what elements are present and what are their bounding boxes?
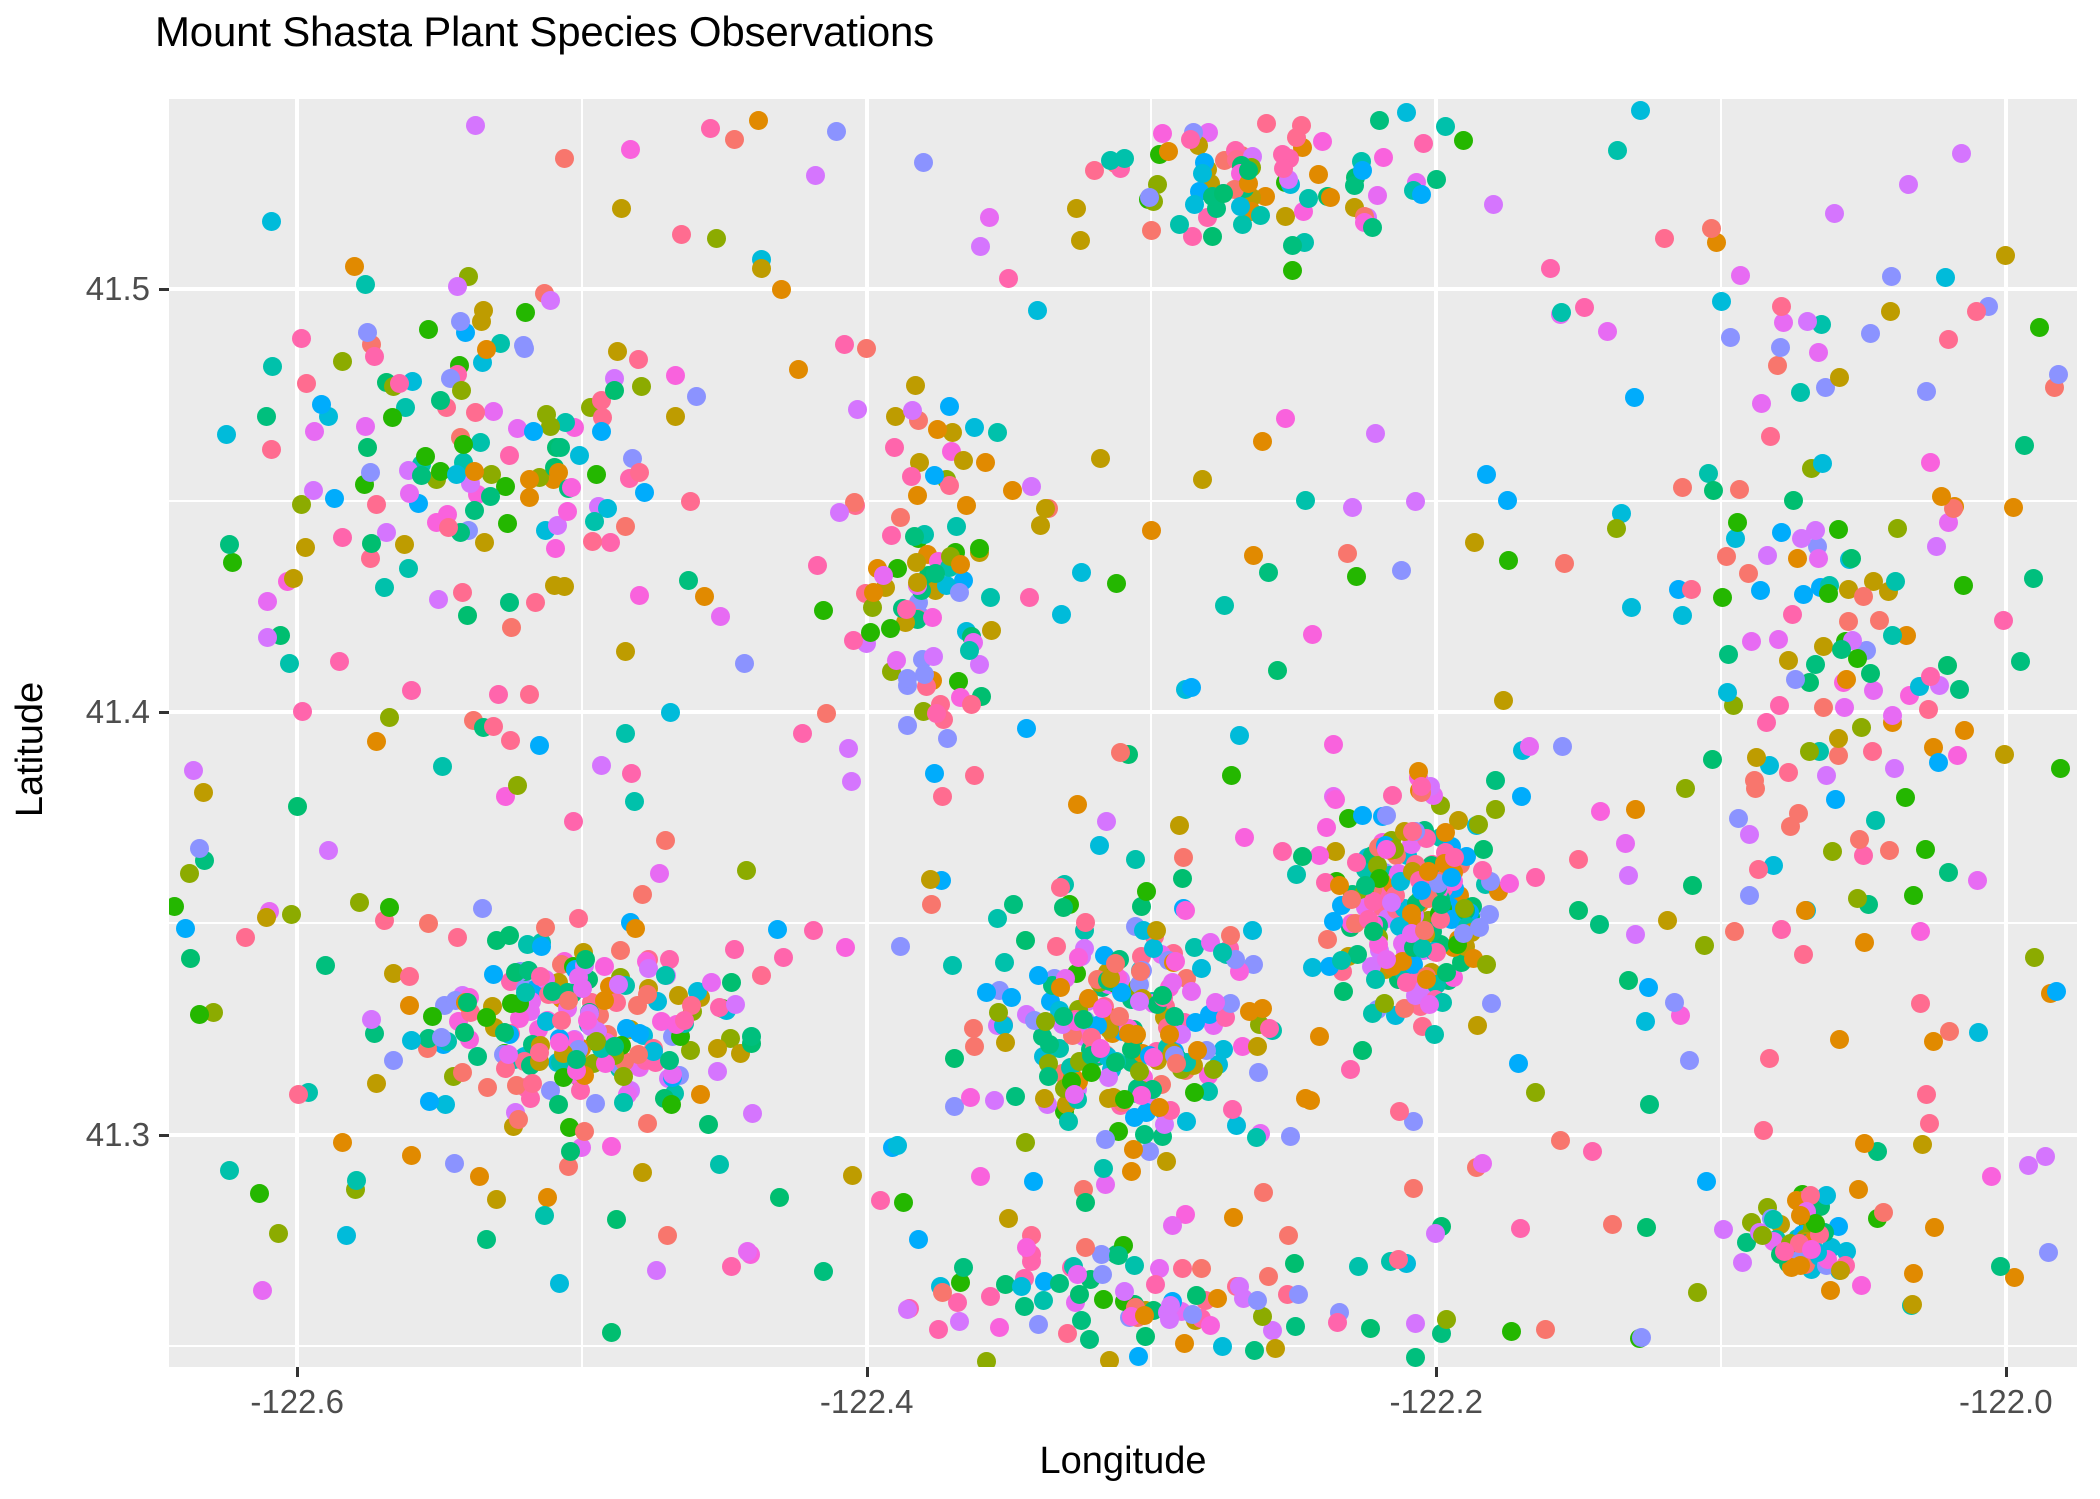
scatter-point: [1590, 915, 1609, 934]
scatter-point: [1318, 930, 1337, 949]
scatter-point: [561, 1142, 580, 1161]
scatter-point: [1852, 1276, 1871, 1295]
scatter-point: [1420, 995, 1439, 1014]
scatter-point: [1368, 186, 1387, 205]
scatter-point: [675, 1011, 694, 1030]
scatter-point: [1047, 937, 1066, 956]
scatter-point: [1754, 1121, 1773, 1140]
scatter-point: [2036, 1147, 2055, 1166]
scatter-point: [536, 918, 555, 937]
scatter-point: [1193, 470, 1212, 489]
scatter-point: [1157, 1152, 1176, 1171]
scatter-point: [1764, 1210, 1783, 1229]
scatter-point: [1289, 1285, 1308, 1304]
scatter-point: [546, 539, 565, 558]
scatter-point: [1936, 268, 1955, 287]
scatter-point: [961, 1088, 980, 1107]
scatter-point: [1281, 1127, 1300, 1146]
scatter-point: [1192, 959, 1211, 978]
scatter-point: [420, 1092, 439, 1111]
scatter-point: [358, 438, 377, 457]
scatter-point: [1349, 1257, 1368, 1276]
scatter-point: [1717, 547, 1736, 566]
scatter-point: [1814, 637, 1833, 656]
scatter-point: [1203, 227, 1222, 246]
scatter-point: [362, 534, 381, 553]
scatter-point: [938, 729, 957, 748]
scatter-point: [1555, 554, 1574, 573]
scatter-point: [1896, 788, 1915, 807]
scatter-point: [253, 1281, 272, 1300]
scatter-point: [1526, 868, 1545, 887]
scatter-point: [1299, 189, 1318, 208]
scatter-point: [1772, 920, 1791, 939]
scatter-point: [419, 320, 438, 339]
scatter-point: [1397, 103, 1416, 122]
scatter-point: [516, 983, 535, 1002]
scatter-point: [447, 465, 466, 484]
scatter-point: [908, 486, 927, 505]
scatter-point: [722, 1257, 741, 1276]
scatter-point: [1569, 901, 1588, 920]
scatter-point: [1016, 1133, 1035, 1152]
scatter-point: [1929, 753, 1948, 772]
scatter-point: [1749, 860, 1768, 879]
scatter-point: [1140, 1142, 1159, 1161]
scatter-point: [1486, 771, 1505, 790]
scatter-point: [1235, 828, 1254, 847]
scatter-point: [990, 1318, 1009, 1337]
scatter-point: [220, 1161, 239, 1180]
scatter-point: [502, 618, 521, 637]
scatter-point: [1177, 1112, 1196, 1131]
scatter-point: [532, 937, 551, 956]
scatter-point: [793, 724, 812, 743]
scatter-point: [1426, 1224, 1445, 1243]
scatter-point: [399, 559, 418, 578]
scatter-point: [400, 996, 419, 1015]
scatter-point: [903, 401, 922, 420]
scatter-point: [1740, 825, 1759, 844]
scatter-point: [1603, 1215, 1622, 1234]
scatter-point: [1115, 149, 1134, 168]
scatter-point: [592, 422, 611, 441]
scatter-point: [1224, 1208, 1243, 1227]
scatter-point: [484, 717, 503, 736]
scatter-point: [1729, 809, 1748, 828]
scatter-point: [1153, 124, 1172, 143]
scatter-point: [710, 1155, 729, 1174]
scatter-point: [1146, 1275, 1165, 1294]
y-axis-tick-label: 41.4: [150, 693, 214, 731]
scatter-point: [1469, 815, 1488, 834]
scatter-point: [1366, 424, 1385, 443]
scatter-point: [1012, 1277, 1031, 1296]
scatter-point: [1473, 861, 1492, 880]
scatter-point: [687, 387, 706, 406]
scatter-point: [1406, 492, 1425, 511]
scatter-point: [1286, 1317, 1305, 1336]
scatter-point: [1742, 632, 1761, 651]
scatter-point: [194, 783, 213, 802]
scatter-point: [752, 966, 771, 985]
scatter-point: [1625, 388, 1644, 407]
scatter-point: [924, 647, 943, 666]
scatter-point: [874, 566, 893, 585]
scatter-point: [541, 417, 560, 436]
scatter-point: [817, 704, 836, 723]
scatter-point: [1017, 719, 1036, 738]
scatter-point: [1437, 963, 1456, 982]
scatter-point: [1342, 890, 1361, 909]
scatter-point: [1182, 982, 1201, 1001]
scatter-point: [1213, 943, 1232, 962]
scatter-point: [1830, 1030, 1849, 1049]
scatter-point: [1619, 866, 1638, 885]
scatter-point: [1704, 481, 1723, 500]
scatter-point: [2047, 982, 2066, 1001]
scatter-point: [965, 1037, 984, 1056]
scatter-point: [1132, 1086, 1151, 1105]
scatter-point: [921, 870, 940, 889]
scatter-point: [1204, 1060, 1223, 1079]
scatter-point: [1968, 871, 1987, 890]
scatter-point: [477, 340, 496, 359]
scatter-point: [1761, 427, 1780, 446]
scatter-point: [1783, 605, 1802, 624]
x-axis-tick: [1435, 1367, 1438, 1377]
scatter-point: [1142, 521, 1161, 540]
scatter-point: [661, 703, 680, 722]
scatter-point: [1541, 259, 1560, 278]
scatter-point: [304, 481, 323, 500]
scatter-point: [1068, 795, 1087, 814]
scatter-point: [473, 899, 492, 918]
scatter-point: [1526, 1083, 1545, 1102]
scatter-point: [1100, 1351, 1119, 1367]
scatter-point: [1500, 874, 1519, 893]
scatter-point: [429, 590, 448, 609]
scatter-point: [1445, 848, 1464, 867]
scatter-point: [1774, 313, 1793, 332]
scatter-point: [1655, 229, 1674, 248]
scatter-point: [1436, 117, 1455, 136]
scatter-point: [180, 864, 199, 883]
scatter-point: [1310, 1027, 1329, 1046]
scatter-point: [1683, 876, 1702, 895]
scatter-point: [1870, 611, 1889, 630]
scatter-point: [1784, 491, 1803, 510]
scatter-point: [1159, 142, 1178, 161]
scatter-point: [1626, 925, 1645, 944]
scatter-point: [915, 665, 934, 684]
scatter-point: [1465, 533, 1484, 552]
scatter-point: [2025, 948, 2044, 967]
scatter-point: [1994, 611, 2013, 630]
scatter-point: [726, 995, 745, 1014]
scatter-point: [423, 1007, 442, 1026]
scatter-point: [1616, 834, 1635, 853]
scatter-point: [570, 446, 589, 465]
scatter-point: [985, 1091, 1004, 1110]
scatter-point: [1036, 499, 1055, 518]
scatter-point: [1747, 748, 1766, 767]
scatter-point: [1952, 144, 1971, 163]
scatter-point: [1051, 978, 1070, 997]
scatter-point: [2019, 1156, 2038, 1175]
scatter-point: [1881, 302, 1900, 321]
scatter-point: [630, 1024, 649, 1043]
scatter-point: [906, 376, 925, 395]
scatter-point: [1619, 971, 1638, 990]
scatter-point: [1332, 951, 1351, 970]
scatter-point: [1072, 563, 1091, 582]
scatter-point: [1791, 1256, 1810, 1275]
scatter-point: [1768, 356, 1787, 375]
plot-panel: [169, 99, 2077, 1367]
scatter-point: [1830, 368, 1849, 387]
scatter-point: [1826, 790, 1845, 809]
scatter-point: [1004, 895, 1023, 914]
scatter-point: [559, 991, 578, 1010]
scatter-point: [1031, 516, 1050, 535]
scatter-point: [520, 488, 539, 507]
scatter-point: [535, 1206, 554, 1225]
scatter-point: [550, 1274, 569, 1293]
scatter-point: [2039, 1243, 2058, 1262]
scatter-point: [950, 1312, 969, 1331]
scatter-point: [1072, 1311, 1091, 1330]
scatter-point: [871, 1191, 890, 1210]
scatter-point: [523, 1074, 542, 1093]
scatter-point: [1069, 948, 1088, 967]
scatter-point: [864, 583, 883, 602]
scatter-point: [1404, 1179, 1423, 1198]
scatter-point: [1303, 625, 1322, 644]
scatter-point: [477, 1230, 496, 1249]
scatter-point: [448, 277, 467, 296]
scatter-point: [484, 402, 503, 421]
scatter-point: [1925, 1218, 1944, 1237]
scatter-point: [1502, 1322, 1521, 1341]
scatter-point: [472, 312, 491, 331]
scatter-point: [1911, 922, 1930, 941]
scatter-point: [445, 1154, 464, 1173]
scatter-point: [1739, 564, 1758, 583]
scatter-point: [1107, 574, 1126, 593]
scatter-point: [1127, 1025, 1146, 1044]
scatter-point: [569, 909, 588, 928]
scatter-point: [595, 991, 614, 1010]
scatter-point: [1888, 519, 1907, 538]
scatter-point: [770, 1188, 789, 1207]
scatter-point: [1144, 939, 1163, 958]
scatter-point: [1919, 700, 1938, 719]
scatter-point: [500, 926, 519, 945]
scatter-point: [431, 391, 450, 410]
scatter-point: [1024, 1172, 1043, 1191]
scatter-point: [1293, 847, 1312, 866]
scatter-point: [672, 225, 691, 244]
scatter-point: [971, 1167, 990, 1186]
scatter-point: [630, 463, 649, 482]
scatter-point: [666, 366, 685, 385]
scatter-point: [1051, 878, 1070, 897]
scatter-point: [1109, 1246, 1128, 1265]
scatter-point: [927, 704, 946, 723]
scatter-point: [1806, 655, 1825, 674]
scatter-point: [1167, 1054, 1186, 1073]
scatter-point: [1366, 970, 1385, 989]
scatter-point: [1850, 830, 1869, 849]
scatter-point: [333, 352, 352, 371]
x-axis-title: Longitude: [169, 1440, 2077, 1483]
scatter-point: [981, 588, 1000, 607]
scatter-point: [1911, 994, 1930, 1013]
scatter-point: [926, 564, 945, 583]
scatter-point: [1002, 988, 1021, 1007]
scatter-point: [333, 528, 352, 547]
scatter-point: [691, 1085, 710, 1104]
scatter-point: [1377, 806, 1396, 825]
scatter-point: [666, 407, 685, 426]
scatter-point: [1903, 1295, 1922, 1314]
x-axis-tick-label: -122.2: [1389, 1383, 1483, 1421]
scatter-point: [1864, 681, 1883, 700]
scatter-point: [1129, 1347, 1148, 1366]
scatter-point: [996, 1033, 1015, 1052]
scatter-point: [1622, 598, 1641, 617]
scatter-point: [258, 628, 277, 647]
scatter-point: [907, 553, 926, 572]
scatter-point: [2030, 318, 2049, 337]
scatter-point: [1175, 1334, 1194, 1353]
scatter-point: [1135, 1306, 1154, 1325]
scatter-point: [976, 453, 995, 472]
scatter-point: [262, 212, 281, 231]
scatter-point: [1324, 912, 1343, 931]
scatter-point: [1419, 862, 1438, 881]
scatter-point: [453, 1063, 472, 1082]
scatter-point: [1855, 933, 1874, 952]
scatter-point: [500, 593, 519, 612]
scatter-point: [1341, 1060, 1360, 1079]
scatter-point: [1631, 101, 1650, 120]
scatter-point: [1309, 165, 1328, 184]
scatter-point: [1825, 204, 1844, 223]
scatter-point: [1136, 1327, 1155, 1346]
scatter-point: [2024, 569, 2043, 588]
scatter-point: [1214, 1040, 1233, 1059]
scatter-point: [541, 291, 560, 310]
scatter-point: [1680, 1051, 1699, 1070]
scatter-point: [1682, 580, 1701, 599]
scatter-point: [1173, 869, 1192, 888]
scatter-point: [1455, 899, 1474, 918]
scatter-point: [361, 463, 380, 482]
scatter-point: [1402, 904, 1421, 923]
scatter-point: [458, 993, 477, 1012]
scatter-point: [1213, 1337, 1232, 1356]
scatter-point: [1364, 892, 1383, 911]
scatter-point: [498, 514, 517, 533]
scatter-point: [1201, 1316, 1220, 1335]
scatter-point: [1718, 683, 1737, 702]
scatter-point: [1474, 840, 1493, 859]
scatter-point: [583, 532, 602, 551]
scatter-point: [1248, 1291, 1267, 1310]
scatter-point: [1955, 721, 1974, 740]
scatter-point: [1794, 585, 1813, 604]
scatter-point: [1772, 297, 1791, 316]
scatter-point: [737, 861, 756, 880]
scatter-point: [909, 1230, 928, 1249]
scatter-point: [592, 756, 611, 775]
scatter-point: [549, 1095, 568, 1114]
scatter-point: [1512, 787, 1531, 806]
scatter-point: [555, 577, 574, 596]
scatter-point: [1995, 745, 2014, 764]
scatter-point: [578, 1011, 597, 1030]
scatter-point: [1771, 338, 1790, 357]
scatter-point: [708, 1039, 727, 1058]
scatter-point: [1244, 546, 1263, 565]
scatter-point: [965, 766, 984, 785]
scatter-point: [365, 347, 384, 366]
chart-root: Mount Shasta Plant Species Observations …: [0, 0, 2100, 1499]
y-axis-tick-label: 41.3: [150, 1116, 214, 1154]
scatter-point: [1639, 978, 1658, 997]
scatter-point: [1122, 1162, 1141, 1181]
scatter-point: [2049, 365, 2068, 384]
scatter-point: [1353, 1041, 1372, 1060]
scatter-point: [622, 764, 641, 783]
scatter-point: [319, 841, 338, 860]
scatter-point: [516, 303, 535, 322]
scatter-point: [1020, 588, 1039, 607]
scatter-point: [499, 1045, 518, 1064]
scatter-point: [530, 1043, 549, 1062]
scatter-point: [1498, 491, 1517, 510]
scatter-point: [1920, 1114, 1939, 1133]
scatter-point: [284, 569, 303, 588]
scatter-point: [814, 1262, 833, 1281]
scatter-point: [1470, 918, 1489, 937]
scatter-point: [586, 1094, 605, 1113]
scatter-point: [356, 275, 375, 294]
scatter-point: [923, 608, 942, 627]
scatter-point: [621, 140, 640, 159]
scatter-point: [982, 621, 1001, 640]
scatter-point: [1243, 921, 1262, 940]
scatter-point: [1176, 901, 1195, 920]
scatter-point: [350, 893, 369, 912]
scatter-point: [1166, 952, 1185, 971]
scatter-point: [1392, 561, 1411, 580]
scatter-point: [1583, 1142, 1602, 1161]
scatter-point: [293, 702, 312, 721]
scatter-point: [1714, 1220, 1733, 1239]
scatter-point: [1093, 1265, 1112, 1284]
scatter-point: [1142, 221, 1161, 240]
scatter-point: [945, 1049, 964, 1068]
scatter-point: [333, 1133, 352, 1152]
scatter-point: [768, 920, 787, 939]
scatter-point: [375, 578, 394, 597]
scatter-point: [1028, 301, 1047, 320]
scatter-point: [258, 592, 277, 611]
scatter-point: [898, 716, 917, 735]
